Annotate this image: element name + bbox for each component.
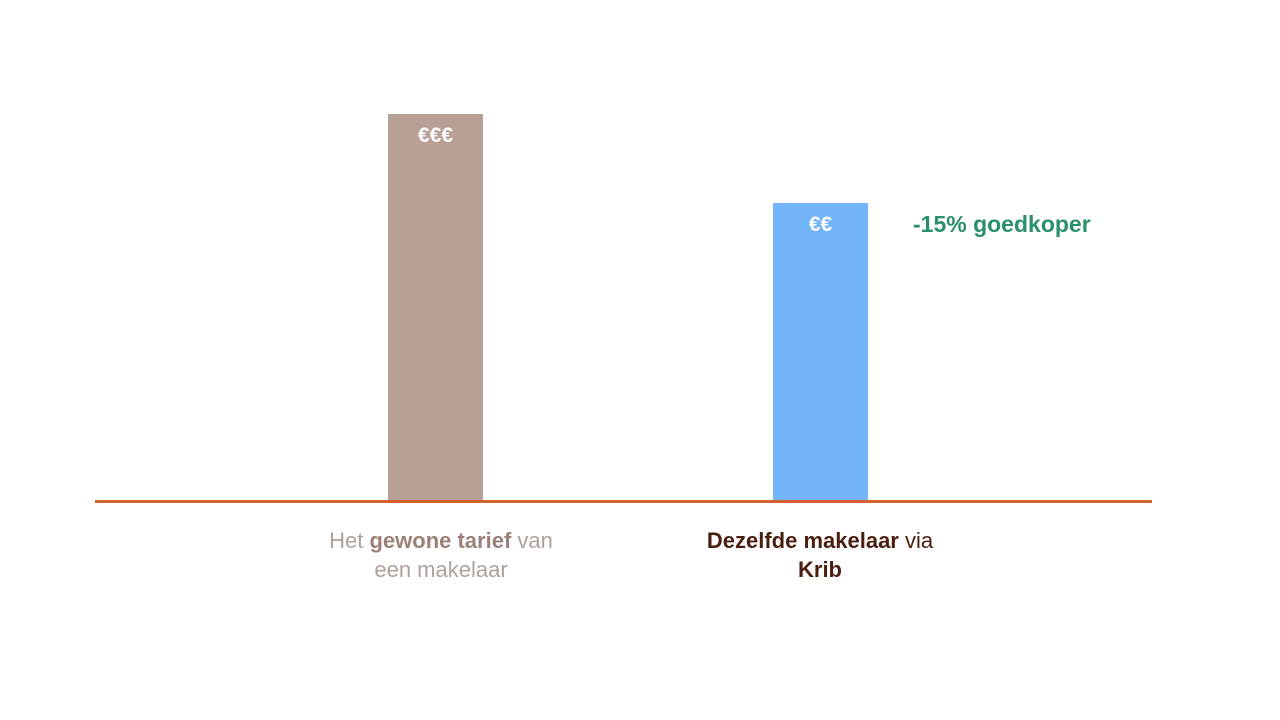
category-label-krib-broker: Dezelfde makelaar via Krib: [700, 526, 940, 584]
comparison-bar-chart: €€€ €€ Het gewone tarief van een makelaa…: [0, 0, 1280, 720]
label-krib-part1: via: [899, 528, 933, 553]
bar-regular-broker: €€€: [388, 114, 483, 502]
label-regular-part1: Het: [329, 528, 369, 553]
label-regular-emphasis: gewone tarief: [369, 528, 511, 553]
bar-krib-broker: €€: [773, 203, 868, 502]
label-krib-emphasis2: Krib: [798, 557, 842, 582]
label-krib-emphasis1: Dezelfde makelaar: [707, 528, 899, 553]
bar-value-label-regular: €€€: [388, 114, 483, 147]
bar-value-label-krib: €€: [773, 203, 868, 236]
category-label-regular-broker: Het gewone tarief van een makelaar: [321, 526, 561, 584]
axis-baseline: [95, 500, 1152, 503]
savings-annotation: -15% goedkoper: [913, 211, 1091, 238]
